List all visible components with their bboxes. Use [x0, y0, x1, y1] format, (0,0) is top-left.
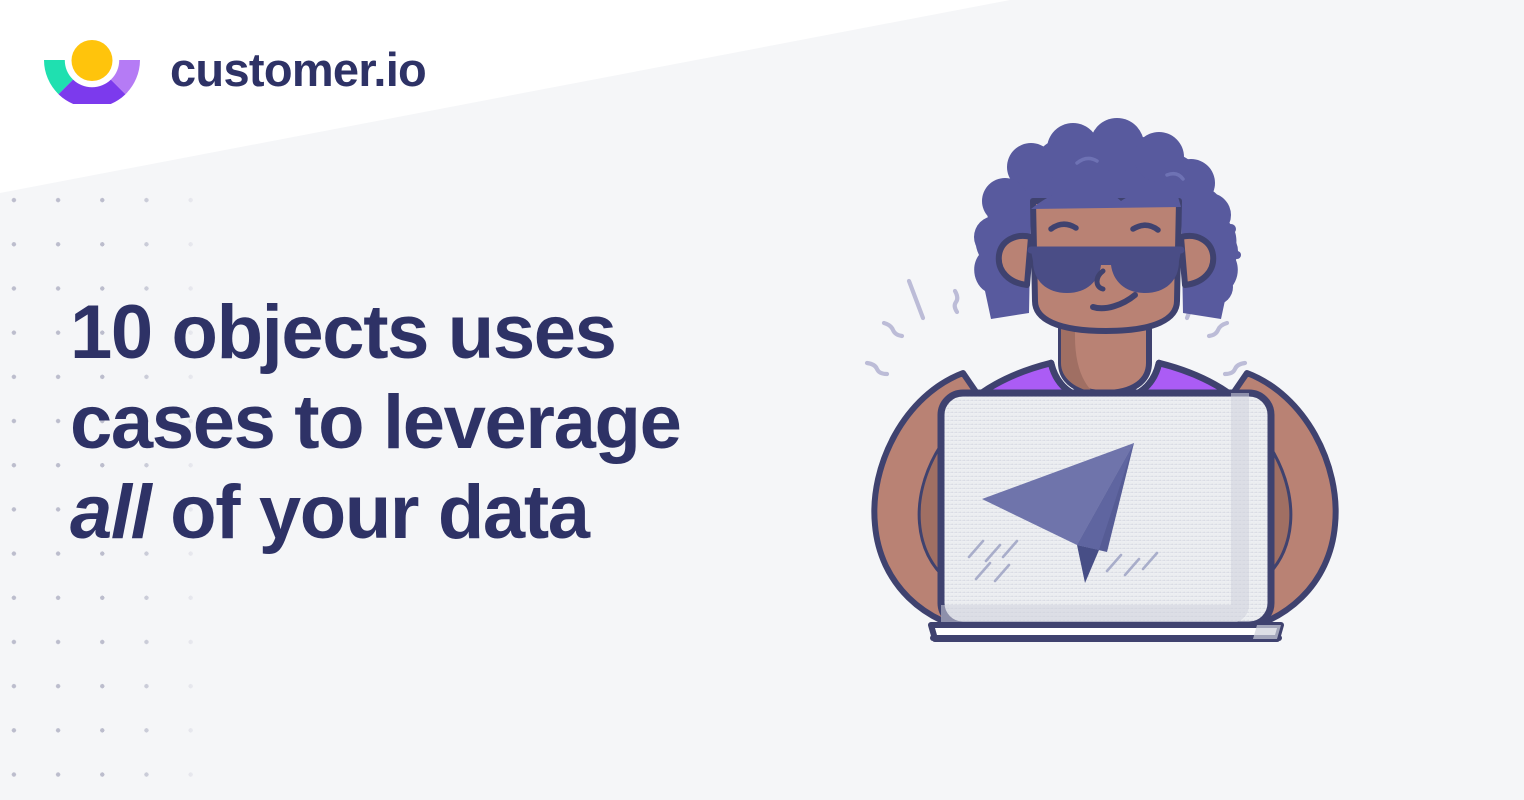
illustration-figure: [867, 118, 1336, 639]
headline-line-2: cases to leverage: [70, 380, 681, 465]
page-title: 10 objects uses cases to leverage all of…: [70, 288, 790, 558]
brand-wordmark: customer.io: [170, 46, 426, 93]
face: [1031, 187, 1181, 331]
person-with-laptop-illustration: [845, 105, 1365, 650]
banner-canvas: customer.io 10 objects uses cases to lev…: [0, 0, 1524, 800]
laptop: [931, 393, 1281, 639]
headline-emphasis: all: [70, 470, 150, 555]
headline-line-3-rest: of your data: [150, 470, 588, 555]
headline-line-1: 10 objects uses: [70, 290, 616, 375]
brand-logo-lockup[interactable]: customer.io: [40, 34, 426, 104]
customer-io-smile-logo-icon: [40, 34, 144, 104]
